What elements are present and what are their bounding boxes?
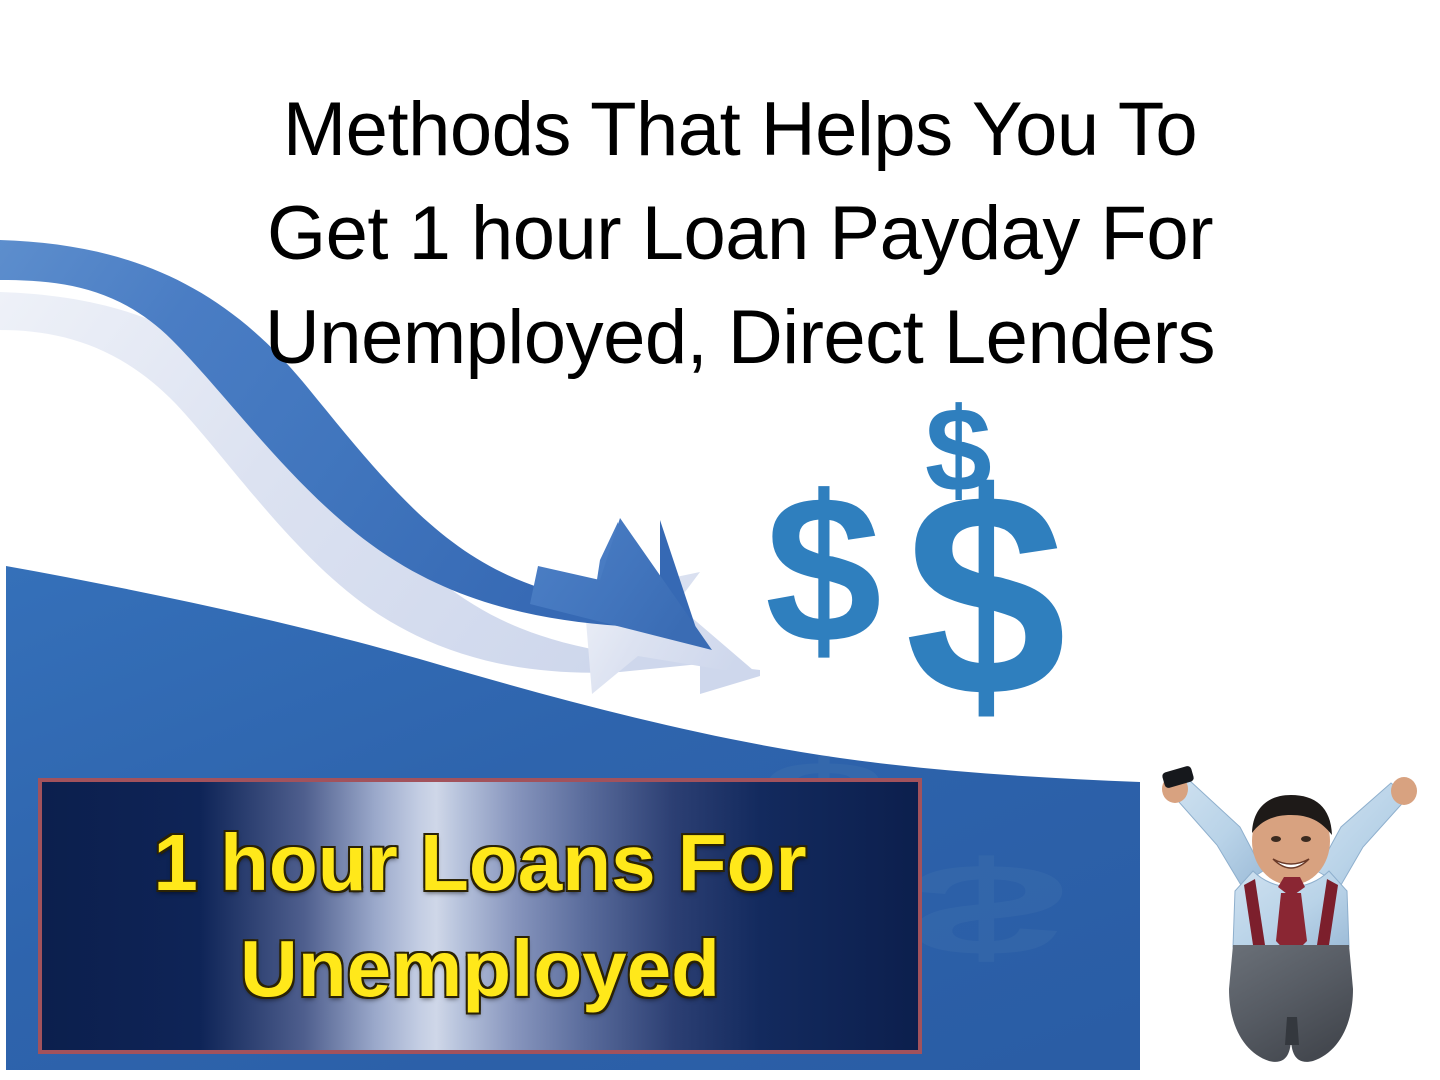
dollar-sign-large-reflection-icon: $ bbox=[905, 845, 1066, 976]
banner-line-1: 1 hour Loans For bbox=[153, 810, 806, 916]
slide-canvas: Methods That Helps You To Get 1 hour Loa… bbox=[0, 0, 1440, 1080]
dollar-sign-group: $ $ $ $ $ bbox=[750, 390, 1150, 810]
celebrating-businessman-image bbox=[1145, 745, 1435, 1075]
banner-line-2: Unemployed bbox=[240, 916, 720, 1022]
dollar-sign-medium-icon: $ bbox=[765, 465, 882, 675]
title-line-1: Methods That Helps You To bbox=[150, 78, 1330, 182]
shoe bbox=[1285, 1017, 1299, 1045]
dollar-sign-large-icon: $ bbox=[905, 450, 1066, 740]
callout-banner: 1 hour Loans For Unemployed bbox=[38, 778, 922, 1054]
title-line-3: Unemployed, Direct Lenders bbox=[150, 286, 1330, 390]
page-title: Methods That Helps You To Get 1 hour Loa… bbox=[150, 78, 1330, 390]
right-hand bbox=[1391, 777, 1417, 805]
title-line-2: Get 1 hour Loan Payday For bbox=[150, 182, 1330, 286]
